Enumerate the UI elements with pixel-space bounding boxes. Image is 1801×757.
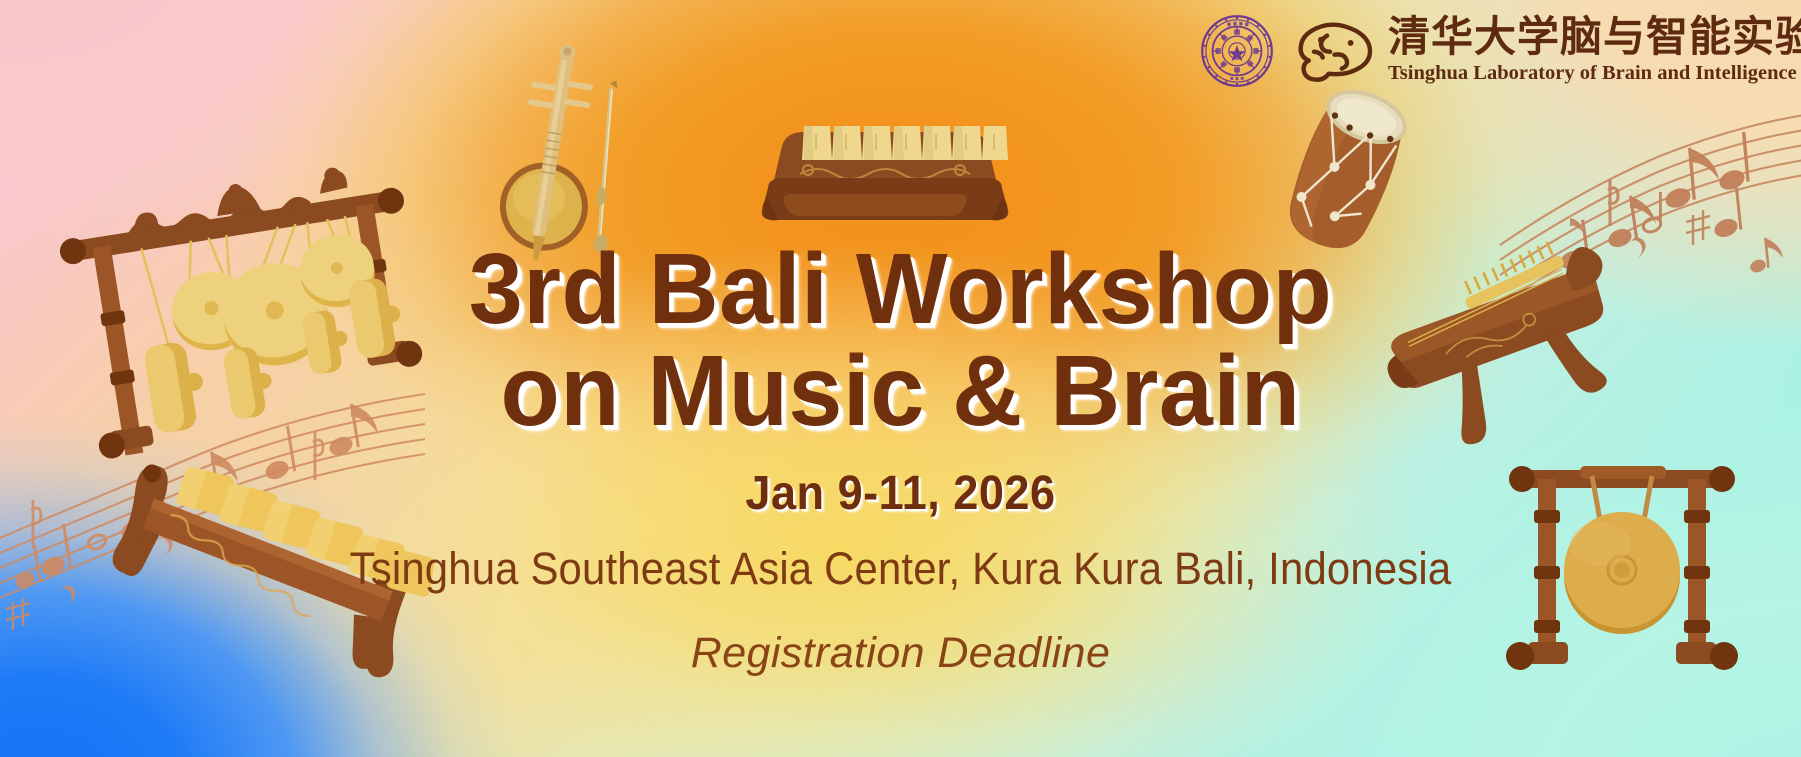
registration-deadline-label: Registration Deadline [0,629,1801,678]
title-line-1: 3rd Bali Workshop [27,240,1774,338]
tsinghua-seal-icon [1200,14,1274,88]
headline-block: 3rd Bali Workshop on Music & Brain Jan 9… [0,240,1801,678]
title-line-2: on Music & Brain [27,342,1774,440]
event-venue: Tsinghua Southeast Asia Center, Kura Kur… [63,543,1738,595]
logo-chinese-name: 清华大学脑与智能实验室 [1388,16,1801,60]
conference-banner: 清华大学脑与智能实验室 Tsinghua Laboratory of Brain… [0,0,1801,757]
event-date: Jan 9-11, 2026 [54,466,1747,521]
metallophone-saron-icon [760,98,1010,228]
brain-mark-icon [1288,18,1378,84]
